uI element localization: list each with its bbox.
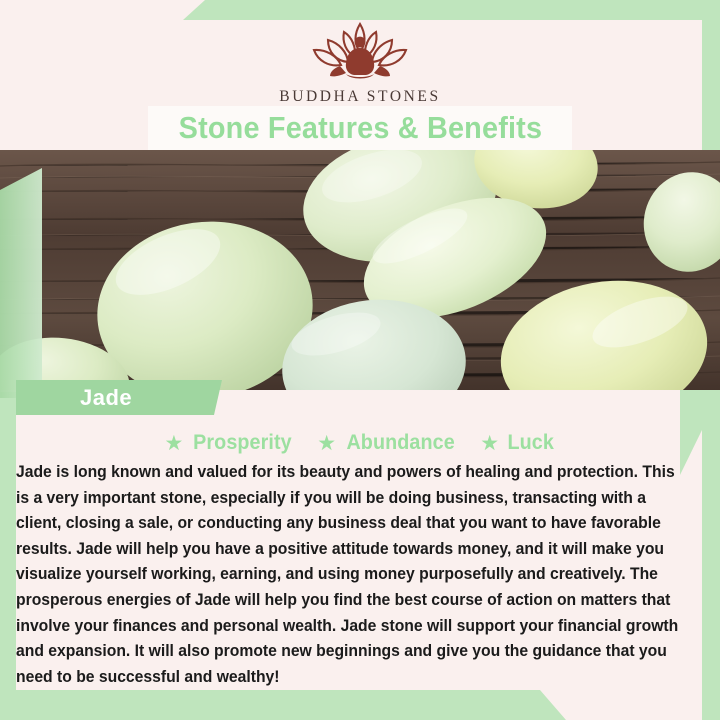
page-title: Stone Features & Benefits: [178, 110, 542, 146]
brand-name: BUDDHA STONES: [279, 88, 440, 106]
benefits-row: ★ Prosperity ★ Abundance ★ Luck: [0, 431, 720, 455]
star-icon: ★: [480, 433, 499, 454]
title-banner: Stone Features & Benefits: [148, 106, 572, 150]
star-icon: ★: [317, 433, 336, 454]
benefit-item-luck: ★ Luck: [480, 431, 555, 455]
decorative-left-tab: [0, 168, 42, 398]
lotus-meditation-icon: [300, 14, 420, 86]
star-icon: ★: [164, 433, 183, 454]
stone-name-badge: Jade: [16, 380, 222, 415]
brand-logo: BUDDHA STONES: [0, 14, 720, 106]
stone-description: Jade is long known and valued for its be…: [16, 460, 679, 690]
benefit-label: Luck: [508, 431, 554, 455]
benefit-item-prosperity: ★ Prosperity: [164, 431, 295, 455]
jade-stones-image: [0, 150, 720, 390]
benefit-label: Abundance: [346, 431, 454, 455]
benefit-item-abundance: ★ Abundance: [317, 431, 458, 455]
stone-name: Jade: [80, 385, 132, 411]
decorative-bottom-band: [0, 690, 720, 720]
stone-photo: [0, 150, 720, 390]
infographic-card: BUDDHA STONES Stone Features & Benefits: [0, 0, 720, 720]
benefit-label: Prosperity: [193, 431, 292, 455]
